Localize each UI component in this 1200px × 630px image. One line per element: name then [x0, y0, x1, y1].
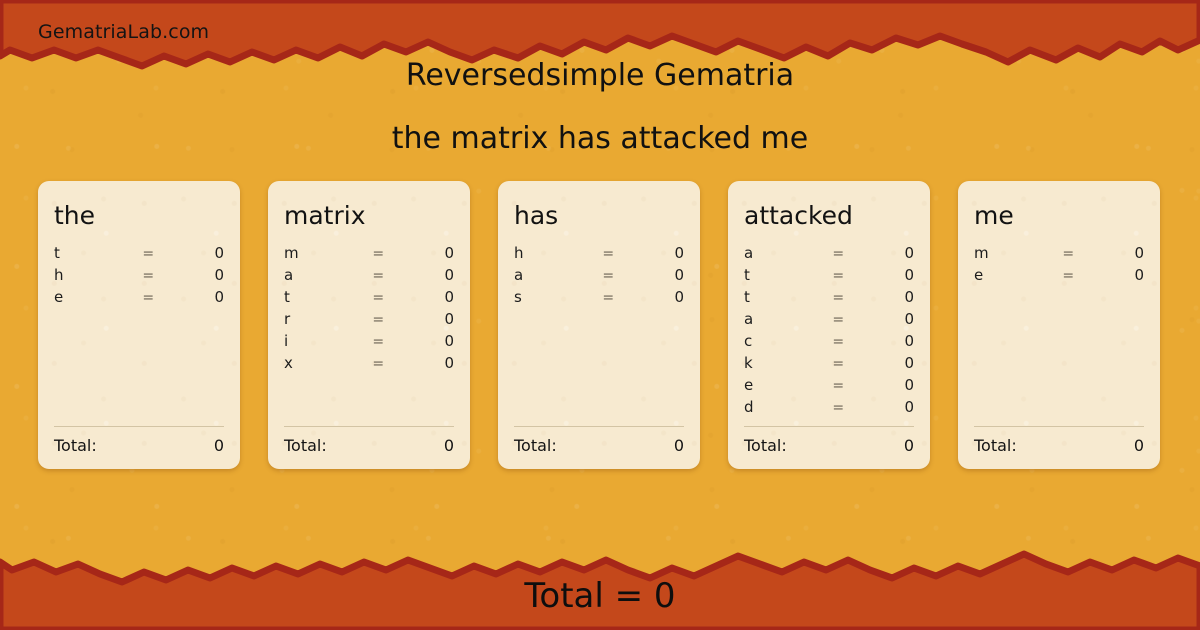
letter-value: 0	[866, 310, 914, 328]
equals-sign: =	[142, 268, 176, 284]
site-logo[interactable]: GematriaLab.com	[38, 21, 209, 43]
card-total-row: Total:0	[744, 436, 914, 455]
equals-sign: =	[372, 334, 406, 350]
equals-sign: =	[142, 246, 176, 262]
card-divider	[54, 426, 224, 427]
equals-sign: =	[602, 246, 636, 262]
letter-row: e=0	[54, 288, 224, 310]
letter-value: 0	[176, 244, 224, 262]
equals-sign: =	[832, 378, 866, 394]
equals-sign: =	[1062, 246, 1096, 262]
letter-value: 0	[866, 266, 914, 284]
letter-char: t	[744, 288, 832, 306]
card-total-value: 0	[444, 436, 454, 455]
equals-sign: =	[832, 268, 866, 284]
letter-row: x=0	[284, 354, 454, 376]
equals-sign: =	[1062, 268, 1096, 284]
card-total-label: Total:	[54, 436, 97, 455]
letter-row: s=0	[514, 288, 684, 310]
letter-char: a	[744, 244, 832, 262]
letter-value: 0	[176, 288, 224, 306]
letter-char: c	[744, 332, 832, 350]
letter-char: h	[54, 266, 142, 284]
letter-row: c=0	[744, 332, 914, 354]
card-total-value: 0	[904, 436, 914, 455]
page-title: Reversedsimple Gematria	[0, 58, 1200, 93]
equals-sign: =	[832, 356, 866, 372]
letter-value: 0	[636, 266, 684, 284]
card-divider	[284, 426, 454, 427]
letter-value: 0	[176, 266, 224, 284]
word-card: thet=0h=0e=0Total:0	[38, 181, 240, 469]
card-word: attacked	[744, 203, 914, 228]
letter-row: t=0	[744, 266, 914, 288]
letter-char: e	[974, 266, 1062, 284]
letter-value: 0	[636, 288, 684, 306]
word-card: attackeda=0t=0t=0a=0c=0k=0e=0d=0Total:0	[728, 181, 930, 469]
card-total-label: Total:	[974, 436, 1017, 455]
letter-row: e=0	[974, 266, 1144, 288]
letter-row: r=0	[284, 310, 454, 332]
card-total-value: 0	[1134, 436, 1144, 455]
letter-char: k	[744, 354, 832, 372]
letter-char: d	[744, 398, 832, 416]
letter-value: 0	[866, 288, 914, 306]
letter-char: e	[744, 376, 832, 394]
letter-value: 0	[866, 244, 914, 262]
letter-value: 0	[1096, 244, 1144, 262]
word-card-list: thet=0h=0e=0Total:0matrixm=0a=0t=0r=0i=0…	[38, 181, 1162, 469]
equals-sign: =	[832, 334, 866, 350]
equals-sign: =	[602, 290, 636, 306]
letter-row: m=0	[974, 244, 1144, 266]
word-card: hash=0a=0s=0Total:0	[498, 181, 700, 469]
card-word: matrix	[284, 203, 454, 228]
equals-sign: =	[602, 268, 636, 284]
card-word: has	[514, 203, 684, 228]
letter-row: t=0	[744, 288, 914, 310]
letter-value: 0	[406, 310, 454, 328]
card-total-label: Total:	[514, 436, 557, 455]
letter-table: m=0a=0t=0r=0i=0x=0	[284, 244, 454, 420]
equals-sign: =	[832, 290, 866, 306]
letter-value: 0	[1096, 266, 1144, 284]
letter-row: a=0	[514, 266, 684, 288]
grand-total: Total = 0	[0, 576, 1200, 616]
poster-canvas: GematriaLab.com Reversedsimple Gematria …	[0, 0, 1200, 630]
letter-char: a	[744, 310, 832, 328]
letter-value: 0	[406, 288, 454, 306]
letter-row: a=0	[284, 266, 454, 288]
letter-char: i	[284, 332, 372, 350]
equals-sign: =	[832, 246, 866, 262]
letter-value: 0	[866, 398, 914, 416]
card-word: me	[974, 203, 1144, 228]
letter-row: d=0	[744, 398, 914, 420]
letter-char: r	[284, 310, 372, 328]
card-total-row: Total:0	[284, 436, 454, 455]
letter-row: k=0	[744, 354, 914, 376]
letter-row: t=0	[54, 244, 224, 266]
letter-row: i=0	[284, 332, 454, 354]
letter-row: h=0	[54, 266, 224, 288]
letter-char: t	[744, 266, 832, 284]
equals-sign: =	[372, 246, 406, 262]
letter-char: t	[284, 288, 372, 306]
letter-table: m=0e=0	[974, 244, 1144, 420]
letter-value: 0	[636, 244, 684, 262]
word-card: mem=0e=0Total:0	[958, 181, 1160, 469]
letter-value: 0	[866, 376, 914, 394]
letter-row: a=0	[744, 310, 914, 332]
letter-value: 0	[406, 332, 454, 350]
letter-value: 0	[866, 332, 914, 350]
letter-row: m=0	[284, 244, 454, 266]
card-divider	[974, 426, 1144, 427]
letter-value: 0	[406, 244, 454, 262]
letter-table: t=0h=0e=0	[54, 244, 224, 420]
equals-sign: =	[142, 290, 176, 306]
letter-table: a=0t=0t=0a=0c=0k=0e=0d=0	[744, 244, 914, 420]
word-card: matrixm=0a=0t=0r=0i=0x=0Total:0	[268, 181, 470, 469]
letter-char: m	[974, 244, 1062, 262]
card-divider	[744, 426, 914, 427]
equals-sign: =	[372, 268, 406, 284]
equals-sign: =	[832, 400, 866, 416]
analyzed-phrase: the matrix has attacked me	[0, 121, 1200, 156]
card-total-row: Total:0	[974, 436, 1144, 455]
letter-char: m	[284, 244, 372, 262]
letter-char: h	[514, 244, 602, 262]
letter-table: h=0a=0s=0	[514, 244, 684, 420]
card-total-value: 0	[674, 436, 684, 455]
letter-row: h=0	[514, 244, 684, 266]
letter-row: e=0	[744, 376, 914, 398]
letter-char: e	[54, 288, 142, 306]
letter-char: x	[284, 354, 372, 372]
letter-value: 0	[406, 266, 454, 284]
letter-char: t	[54, 244, 142, 262]
letter-row: a=0	[744, 244, 914, 266]
letter-char: a	[284, 266, 372, 284]
card-total-label: Total:	[744, 436, 787, 455]
equals-sign: =	[372, 356, 406, 372]
card-total-row: Total:0	[514, 436, 684, 455]
letter-char: a	[514, 266, 602, 284]
letter-value: 0	[866, 354, 914, 372]
equals-sign: =	[372, 290, 406, 306]
card-total-value: 0	[214, 436, 224, 455]
card-total-row: Total:0	[54, 436, 224, 455]
equals-sign: =	[372, 312, 406, 328]
card-word: the	[54, 203, 224, 228]
letter-char: s	[514, 288, 602, 306]
equals-sign: =	[832, 312, 866, 328]
card-divider	[514, 426, 684, 427]
letter-row: t=0	[284, 288, 454, 310]
card-total-label: Total:	[284, 436, 327, 455]
letter-value: 0	[406, 354, 454, 372]
